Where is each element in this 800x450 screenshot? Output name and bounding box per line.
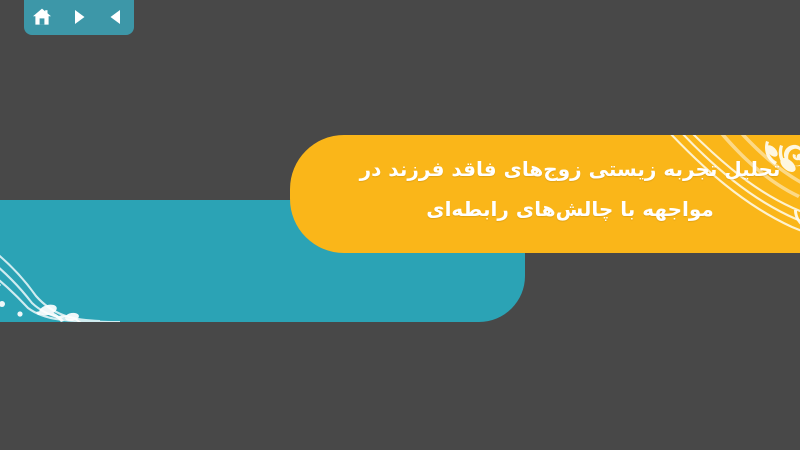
orange-title-banner: تحلیل تجربه زیستی زوج‌های فاقد فرزند در … — [290, 135, 800, 253]
home-button[interactable] — [29, 4, 55, 30]
next-slide-button[interactable] — [66, 4, 92, 30]
slide-title: تحلیل تجربه زیستی زوج‌های فاقد فرزند در … — [310, 149, 800, 229]
presentation-slide: تحلیل تجربه زیستی زوج‌های فاقد فرزند در … — [0, 0, 800, 450]
slide-title-line-1: تحلیل تجربه زیستی زوج‌های فاقد فرزند در — [310, 149, 800, 189]
slide-title-line-2: مواجهه با چالش‌های رابطه‌ای — [310, 189, 800, 229]
slide-navigation-bar — [24, 0, 134, 35]
triangle-left-icon — [106, 7, 126, 27]
house-icon — [31, 6, 53, 28]
previous-slide-button[interactable] — [103, 4, 129, 30]
arabesque-corner-ornament — [0, 200, 170, 322]
triangle-right-icon — [69, 7, 89, 27]
